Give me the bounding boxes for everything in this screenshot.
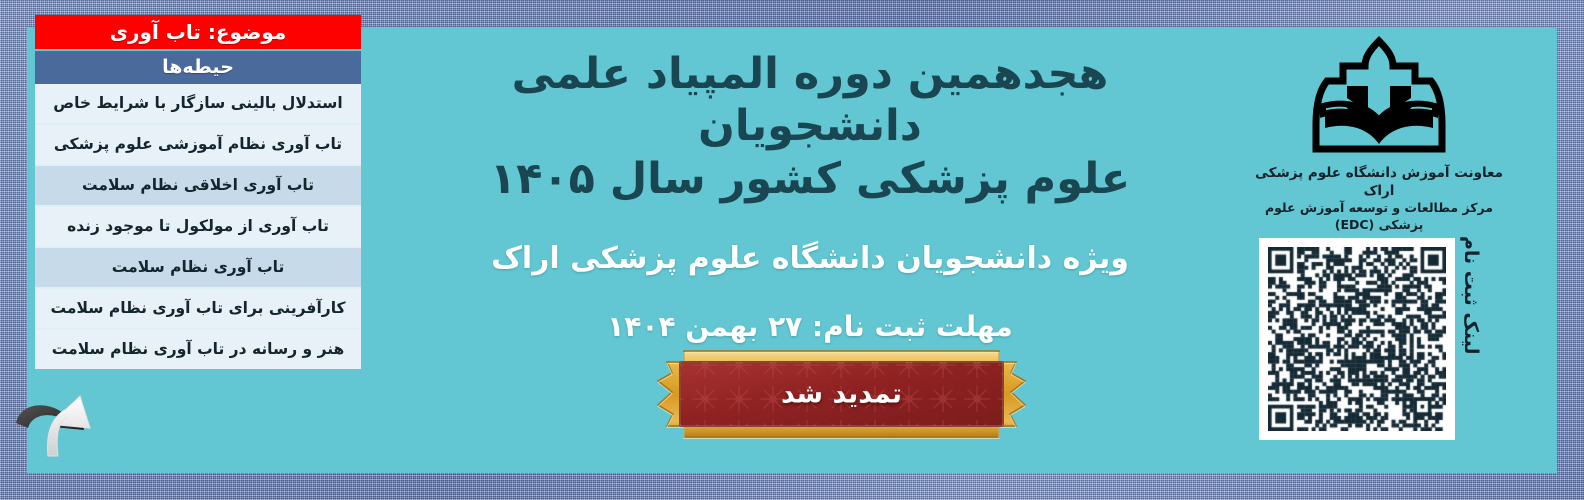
subtitle: ویژه دانشجویان دانشگاه علوم پزشکی اراک: [400, 241, 1220, 276]
organization-block: معاونت آموزش دانشگاه علوم پزشکی اراک مرک…: [1248, 36, 1510, 234]
qr-code-icon[interactable]: [1268, 247, 1446, 431]
topic-panel: موضوع: تاب آوری حیطه‌ها استدلال بالینی س…: [35, 15, 361, 369]
domain-row: هنر و رسانه در تاب آوری نظام سلامت: [35, 330, 361, 369]
domain-row: تاب آوری نظام سلامت: [35, 248, 361, 289]
page-title: هجدهمین دوره المپیاد علمی دانشجویان علوم…: [400, 48, 1220, 205]
mosque-book-logo-icon: [1311, 36, 1447, 156]
main-title-line-2: علوم پزشکی کشور سال ۱۴۰۵: [400, 153, 1220, 205]
domain-row: کارآفرینی برای تاب آوری نظام سلامت: [35, 289, 361, 330]
qr-code-frame[interactable]: [1259, 238, 1455, 440]
banner-root: موضوع: تاب آوری حیطه‌ها استدلال بالینی س…: [0, 0, 1584, 500]
domains-table-body: استدلال بالینی سازگار با شرایط خاصتاب آو…: [35, 84, 361, 369]
registration-link-label: لینک ثبت نام: [1452, 228, 1492, 443]
domain-row: تاب آوری اخلاقی نظام سلامت: [35, 166, 361, 207]
registration-deadline: مهلت ثبت نام: ۲۷ بهمن ۱۴۰۴: [400, 310, 1220, 343]
qr-code-area[interactable]: [1259, 238, 1455, 440]
domain-row: تاب آوری نظام آموزشی علوم پزشکی: [35, 125, 361, 166]
registration-link-text: لینک ثبت نام: [1460, 236, 1482, 355]
curved-arrow-up-right-icon: [10, 378, 160, 458]
organization-name-line-1: معاونت آموزش دانشگاه علوم پزشکی اراک: [1248, 164, 1510, 200]
domain-row: تاب آوری از مولکول تا موجود زنده: [35, 207, 361, 248]
domain-row: استدلال بالینی سازگار با شرایط خاص: [35, 84, 361, 125]
main-title-line-1: هجدهمین دوره المپیاد علمی دانشجویان: [400, 48, 1220, 153]
topic-bar: موضوع: تاب آوری: [35, 15, 361, 49]
extended-status-button[interactable]: [654, 348, 1029, 440]
domains-table-header: حیطه‌ها: [35, 49, 361, 84]
cta-button-wrapper: تمدید شد: [654, 348, 1029, 440]
